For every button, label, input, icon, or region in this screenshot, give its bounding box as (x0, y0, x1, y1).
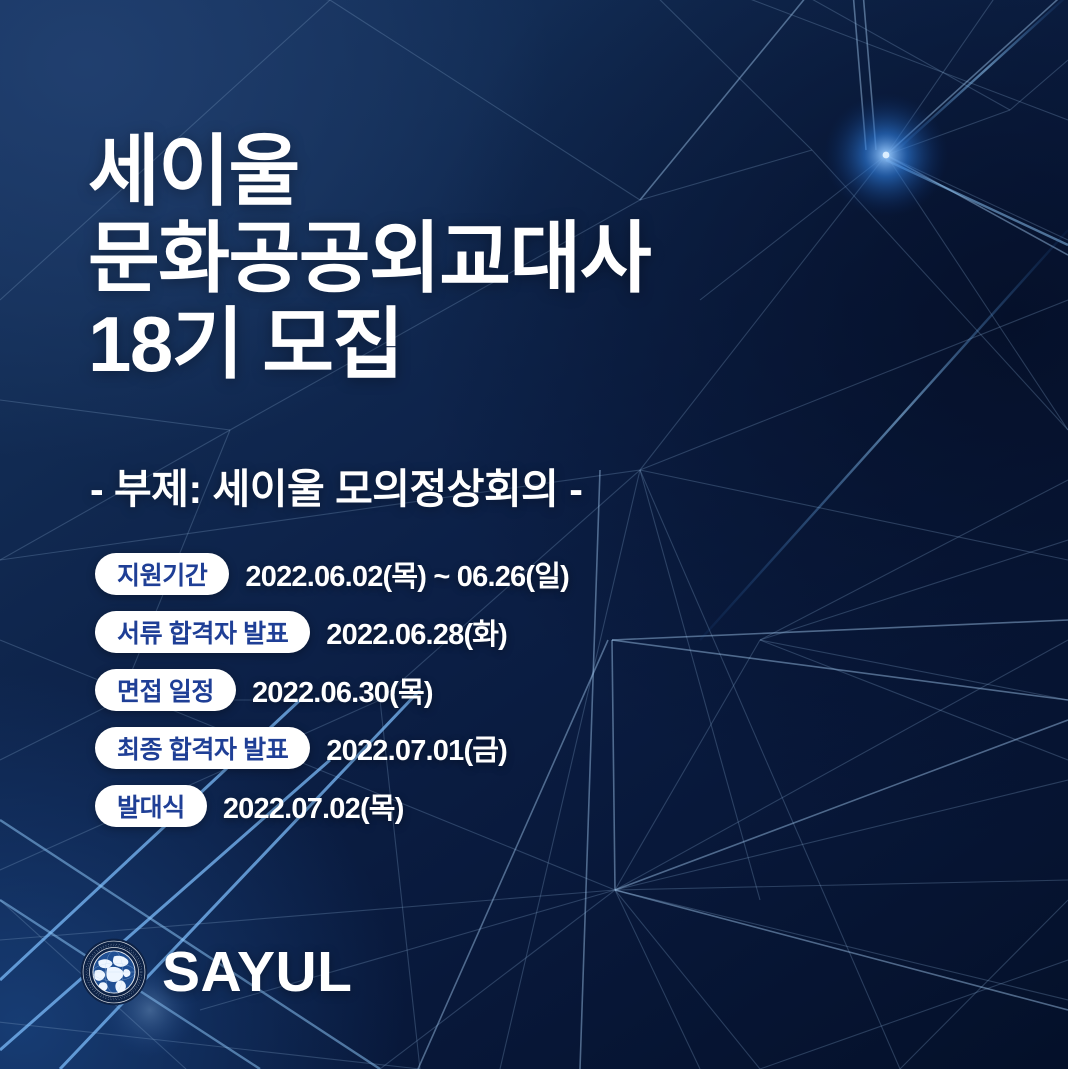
schedule-label-badge: 면접 일정 (95, 669, 236, 711)
globe-emblem-icon (80, 938, 148, 1006)
schedule-label-badge: 최종 합격자 발표 (95, 727, 310, 769)
title-line-3: 18기 모집 (88, 301, 650, 388)
brand-wordmark: SAYUL (162, 944, 352, 1001)
poster-canvas: 세이울 문화공공외교대사 18기 모집 - 부제: 세이울 모의정상회의 - 지… (0, 0, 1068, 1069)
brand-logo: SAYUL (80, 938, 352, 1006)
schedule-row: 최종 합격자 발표 2022.07.01(금) (95, 726, 569, 770)
title-line-1: 세이울 (88, 128, 650, 215)
schedule-row: 서류 합격자 발표 2022.06.28(화) (95, 610, 569, 654)
schedule-list: 지원기간 2022.06.02(목) ~ 06.26(일) 서류 합격자 발표 … (95, 552, 569, 828)
schedule-date-text: 2022.07.01(금) (326, 727, 507, 769)
schedule-date-text: 2022.06.28(화) (326, 611, 507, 653)
schedule-row: 면접 일정 2022.06.30(목) (95, 668, 569, 712)
schedule-date-text: 2022.06.02(목) ~ 06.26(일) (245, 553, 569, 595)
schedule-row: 발대식 2022.07.02(목) (95, 784, 569, 828)
schedule-label-badge: 서류 합격자 발표 (95, 611, 310, 653)
schedule-date-text: 2022.06.30(목) (252, 669, 433, 711)
schedule-row: 지원기간 2022.06.02(목) ~ 06.26(일) (95, 552, 569, 596)
poster-subtitle: - 부제: 세이울 모의정상회의 - (90, 455, 582, 515)
poster-content: 세이울 문화공공외교대사 18기 모집 - 부제: 세이울 모의정상회의 - 지… (0, 0, 1068, 1069)
schedule-date-text: 2022.07.02(목) (223, 785, 404, 827)
schedule-label-badge: 발대식 (95, 785, 207, 827)
title-line-2: 문화공공외교대사 (88, 215, 650, 302)
page-title: 세이울 문화공공외교대사 18기 모집 (88, 128, 650, 388)
schedule-label-badge: 지원기간 (95, 553, 229, 595)
